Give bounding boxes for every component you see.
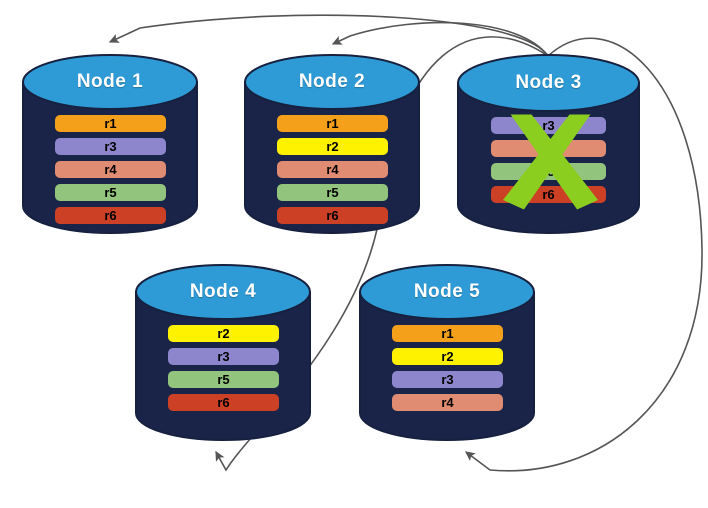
replica-bar-r5[interactable]: r5 [277,184,388,201]
replica-bar-r5[interactable]: r5 [168,371,279,388]
replica-list: r1r2r3r4 [392,325,503,411]
replica-bar-r6[interactable]: r6 [491,186,606,203]
diagram-canvas: Node 1r1r3r4r5r6Node 2r1r2r4r5r6Node 3r3… [0,0,708,508]
cylinder-top [458,55,639,111]
replica-list: r1r3r4r5r6 [55,115,166,224]
replica-bar-r4[interactable]: r4 [55,161,166,178]
database-node-2[interactable]: Node 2r1r2r4r5r6 [244,55,420,233]
database-node-5[interactable]: Node 5r1r2r3r4 [359,265,535,440]
replica-bar-r2[interactable]: r2 [277,138,388,155]
replica-bar-r5[interactable]: r5 [491,163,606,180]
cylinder-top [23,55,197,109]
replica-bar-r3[interactable]: r3 [491,117,606,134]
cylinder-top [360,265,534,319]
replica-bar-r1[interactable]: r1 [392,325,503,342]
cylinder-top [245,55,419,109]
replica-bar-r3[interactable]: r3 [168,348,279,365]
replica-bar-r2[interactable]: r2 [392,348,503,365]
database-node-4[interactable]: Node 4r2r3r5r6 [135,265,311,440]
replica-list: r3r4r5r6 [491,117,606,203]
database-node-3[interactable]: Node 3r3r4r5r6 [457,55,640,233]
replica-bar-r1[interactable]: r1 [277,115,388,132]
replica-bar-r6[interactable]: r6 [168,394,279,411]
replica-bar-r4[interactable]: r4 [392,394,503,411]
replica-bar-r3[interactable]: r3 [392,371,503,388]
replica-bar-r2[interactable]: r2 [168,325,279,342]
database-node-1[interactable]: Node 1r1r3r4r5r6 [22,55,198,233]
arrow-node3-to-node1 [110,15,548,56]
replica-bar-r3[interactable]: r3 [55,138,166,155]
replica-bar-r4[interactable]: r4 [491,140,606,157]
replica-bar-r6[interactable]: r6 [55,207,166,224]
replica-bar-r4[interactable]: r4 [277,161,388,178]
cylinder-top [136,265,310,319]
replica-bar-r1[interactable]: r1 [55,115,166,132]
replica-bar-r6[interactable]: r6 [277,207,388,224]
replica-list: r2r3r5r6 [168,325,279,411]
replica-bar-r5[interactable]: r5 [55,184,166,201]
arrow-node3-to-node2 [333,23,548,56]
replica-list: r1r2r4r5r6 [277,115,388,224]
